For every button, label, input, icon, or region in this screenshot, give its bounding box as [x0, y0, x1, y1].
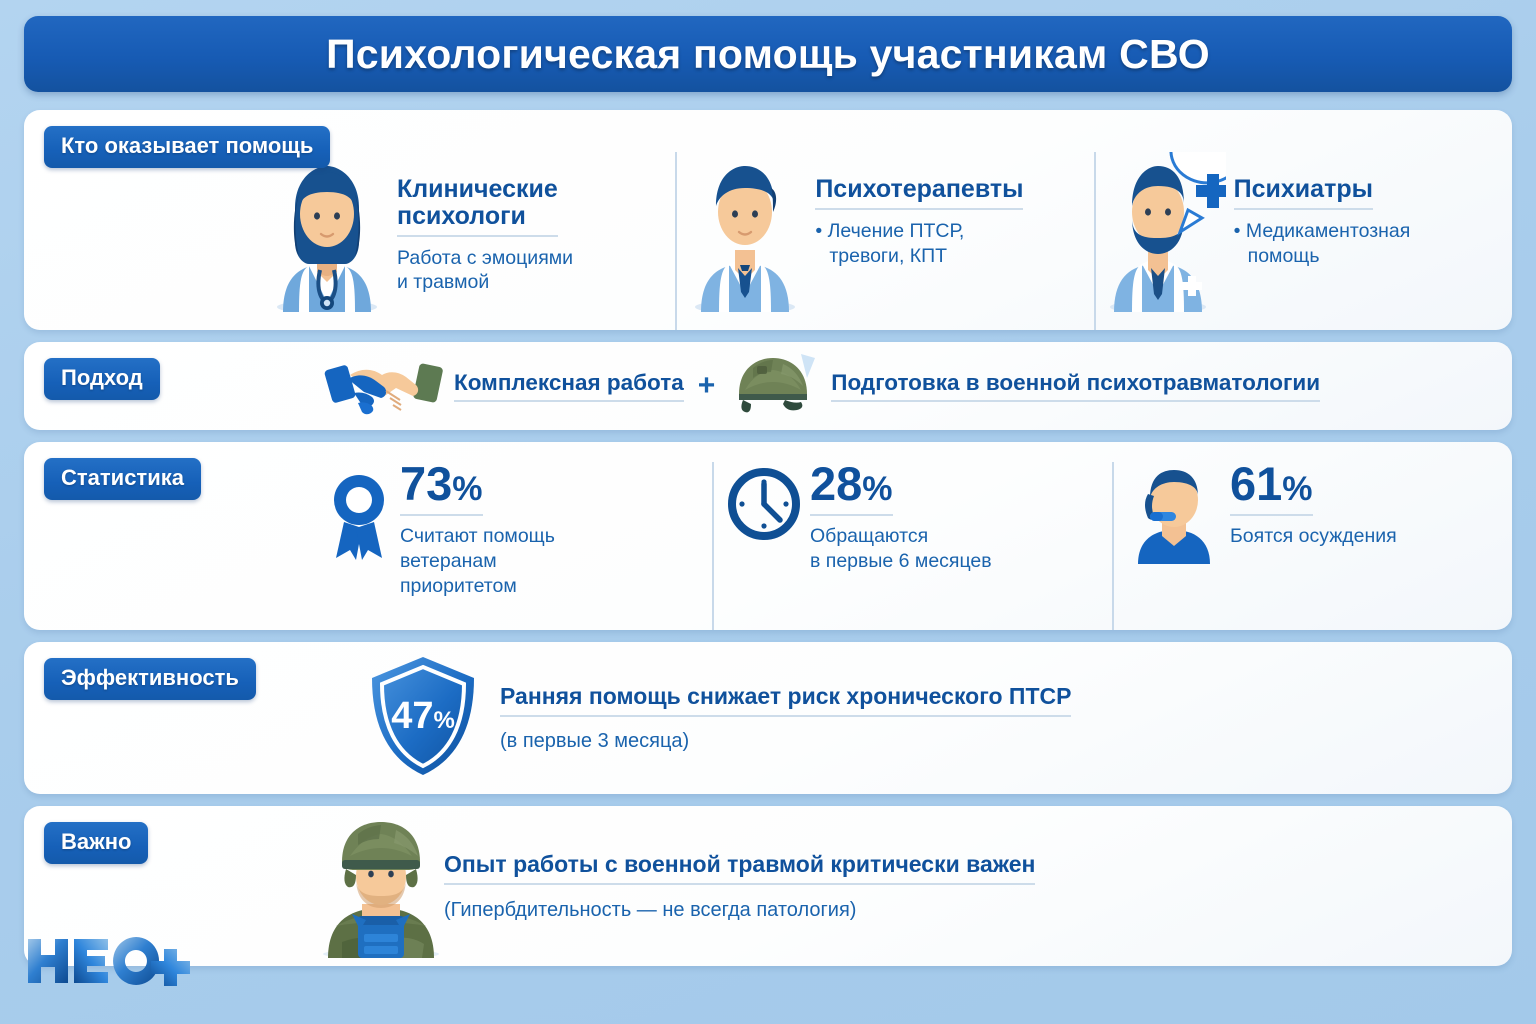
- stat-fear-judgement[interactable]: 61% Боятся осуждения: [1112, 462, 1512, 630]
- provider-title: Психотерапевты: [815, 176, 1023, 210]
- plus-icon: +: [698, 369, 716, 403]
- important-headline: Опыт работы с военной травмой критически…: [444, 851, 1035, 885]
- provider-description: • Лечение ПТСР, тревоги, КПТ: [815, 219, 1023, 269]
- neo-plus-logo[interactable]: [24, 933, 192, 994]
- provider-text: Клинические психологи Работа с эмоциями …: [389, 152, 573, 295]
- stat-value: 61%: [1230, 462, 1313, 516]
- stat-label: Обращаются в первые 6 месяцев: [810, 524, 992, 575]
- bullet-icon: •: [815, 220, 822, 242]
- section-statistics: Статистика 73% Считают помощь ветеранам: [24, 442, 1512, 630]
- section-badge-effectiveness: Эффективность: [44, 658, 256, 700]
- section-important: Важно: [24, 806, 1512, 966]
- section-approach: Подход Комплексная работа +: [24, 342, 1512, 430]
- provider-title: Клинические психологи: [397, 176, 558, 237]
- section-effectiveness: Эффективность 47% Ранняя помощь снижает …: [24, 642, 1512, 794]
- provider-psychiatrists[interactable]: Психиатры • Медикаментозная помощь: [1094, 152, 1512, 330]
- soldier-avatar: [306, 816, 456, 963]
- important-subline: (Гипербдительность — не всегда патология…: [444, 899, 1035, 922]
- stat-label: Считают помощь ветеранам приоритетом: [400, 524, 555, 600]
- provider-title: Психиатры: [1234, 176, 1373, 210]
- section-badge-approach: Подход: [44, 358, 160, 400]
- approach-item-1: Комплексная работа: [454, 370, 684, 402]
- provider-text: Психотерапевты • Лечение ПТСР, тревоги, …: [807, 152, 1023, 269]
- provider-text: Психиатры • Медикаментозная помощь: [1226, 152, 1411, 269]
- stat-content: 28% Обращаются в первые 6 месяцев: [810, 462, 992, 574]
- provider-description: • Медикаментозная помощь: [1234, 219, 1411, 269]
- statistics-columns: 73% Считают помощь ветеранам приоритетом: [24, 442, 1512, 630]
- stat-label: Боятся осуждения: [1230, 524, 1397, 549]
- female-psychologist-avatar: [265, 152, 389, 312]
- approach-row: Комплексная работа + Подготовка в военно…: [324, 351, 1320, 422]
- handshake-icon: [324, 351, 444, 422]
- section-badge-important: Важно: [44, 822, 148, 864]
- effectiveness-headline: Ранняя помощь снижает риск хронического …: [500, 683, 1071, 717]
- clock-icon: [728, 462, 800, 545]
- effectiveness-subline: (в первые 3 месяца): [500, 730, 1071, 753]
- stat-value: 73%: [400, 462, 483, 516]
- provider-psychotherapists[interactable]: Психотерапевты • Лечение ПТСР, тревоги, …: [675, 152, 1093, 330]
- stat-content: 61% Боятся осуждения: [1230, 462, 1397, 549]
- approach-item-2: Подготовка в военной психотравматологии: [831, 370, 1320, 402]
- section-badge-providers: Кто оказывает помощь: [44, 126, 330, 168]
- section-providers: Кто оказывает помощь: [24, 110, 1512, 330]
- stat-first-six-months[interactable]: 28% Обращаются в первые 6 месяцев: [712, 462, 1112, 630]
- section-badge-statistics: Статистика: [44, 458, 201, 500]
- infographic-page: Психологическая помощь участникам СВО Кт…: [0, 0, 1536, 1024]
- important-text: Опыт работы с военной травмой критически…: [444, 851, 1035, 922]
- page-title: Психологическая помощь участникам СВО: [326, 31, 1210, 78]
- bullet-icon: •: [1234, 220, 1241, 242]
- effectiveness-text: Ранняя помощь снижает риск хронического …: [500, 683, 1071, 753]
- stat-content: 73% Считают помощь ветеранам приоритетом: [400, 462, 555, 600]
- male-therapist-avatar: [683, 152, 807, 312]
- person-headset-icon: [1128, 462, 1220, 569]
- provider-clinical-psychologists[interactable]: Клинические психологи Работа с эмоциями …: [259, 152, 675, 330]
- award-ribbon-icon: [328, 462, 390, 569]
- page-header: Психологическая помощь участникам СВО: [24, 16, 1512, 92]
- bearded-psychiatrist-avatar: [1102, 152, 1226, 312]
- shield-icon: 47%: [364, 654, 482, 783]
- military-helmet-icon: [729, 352, 821, 421]
- stat-value: 28%: [810, 462, 893, 516]
- provider-description: Работа с эмоциями и травмой: [397, 246, 573, 296]
- stat-priority[interactable]: 73% Считают помощь ветеранам приоритетом: [314, 462, 712, 630]
